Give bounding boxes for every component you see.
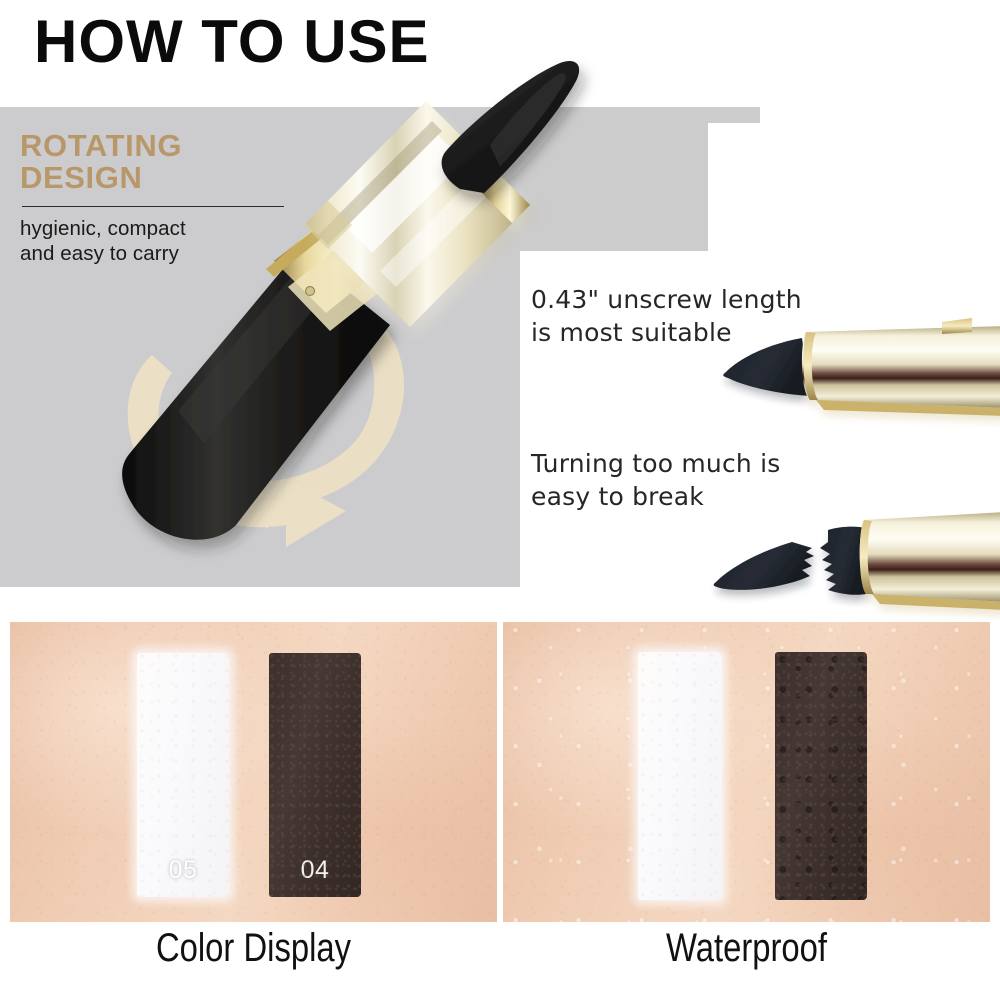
skin-background: [10, 622, 497, 922]
feature-subtext-line1: hygienic, compact: [20, 216, 310, 241]
swatch-panel-waterproof: [503, 622, 990, 922]
feature-subtext: hygienic, compact and easy to carry: [20, 216, 310, 266]
pen-tip-black: [723, 338, 810, 396]
feature-subtext-line2: and easy to carry: [20, 241, 310, 266]
water-beading-icon: [775, 652, 867, 900]
pen-tip-stub: [820, 527, 866, 595]
feature-kicker-line1: ROTATING: [20, 130, 310, 162]
feature-copy-block: ROTATING DESIGN hygienic, compact and ea…: [20, 130, 310, 266]
swatch-label-04: 04: [269, 858, 361, 883]
swatch-panel-color-display: 05 04: [10, 622, 497, 922]
pen-tip-fragment: [714, 542, 814, 590]
pen-broken-illustration: [700, 490, 1000, 620]
caption-color-display: Color Display: [54, 928, 453, 968]
caption-waterproof: Waterproof: [547, 928, 946, 968]
feature-kicker: ROTATING DESIGN: [20, 130, 310, 194]
callout-turning-line1: Turning too much is: [531, 447, 861, 480]
swatch-waterproof-dark: [775, 652, 867, 900]
page-title: HOW TO USE: [34, 12, 430, 72]
swatch-shade-05: 05: [137, 653, 229, 897]
swatch-shade-04: 04: [269, 653, 361, 897]
feature-kicker-line2: DESIGN: [20, 162, 310, 194]
infographic-canvas: HOW TO USE: [0, 0, 1000, 1000]
divider-rule: [22, 206, 284, 207]
swatch-label-05: 05: [137, 858, 229, 883]
water-droplets-overlay: [503, 622, 990, 922]
pen-intact-illustration: [706, 300, 1000, 430]
swatch-waterproof-white: [638, 652, 722, 900]
